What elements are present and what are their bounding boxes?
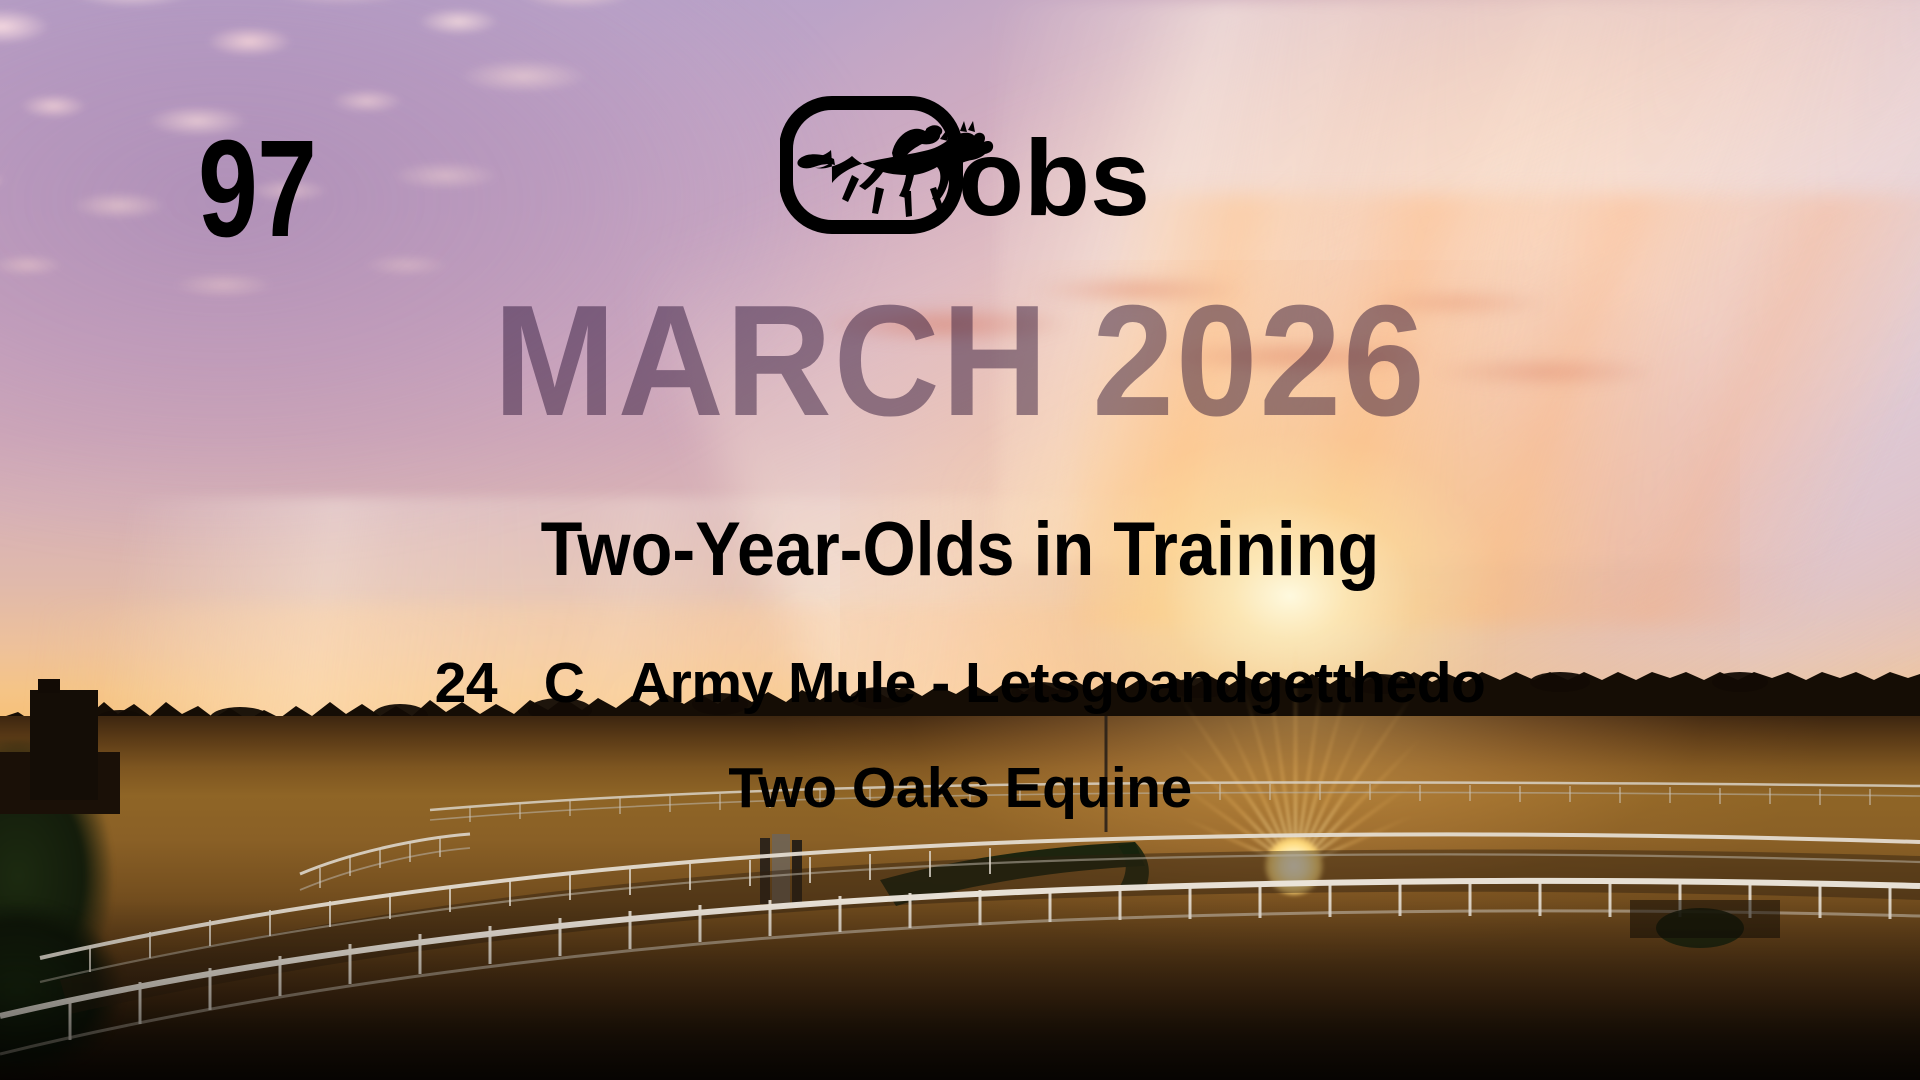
sale-type: Two-Year-Olds in Training: [96, 512, 1824, 588]
catalog-pedigree: Army Mule - Letsgoandgetthedo: [629, 651, 1485, 715]
catalog-sex-code: C: [544, 651, 585, 715]
catalog-banner: 97: [0, 0, 1920, 1080]
obs-wordmark: obs: [958, 117, 1150, 235]
text-overlay: 97: [0, 0, 1920, 1080]
catalog-entry-line: 24 C Army Mule - Letsgoandgetthedo: [0, 655, 1920, 712]
catalog-hip-number: 24: [435, 651, 497, 715]
hip-number: 97: [198, 120, 316, 258]
obs-logo: obs: [780, 95, 1170, 235]
consignor-name: Two Oaks Equine: [0, 760, 1920, 817]
obs-logo-mark: obs: [780, 95, 1170, 235]
sale-month-year: MARCH 2026: [67, 282, 1853, 440]
